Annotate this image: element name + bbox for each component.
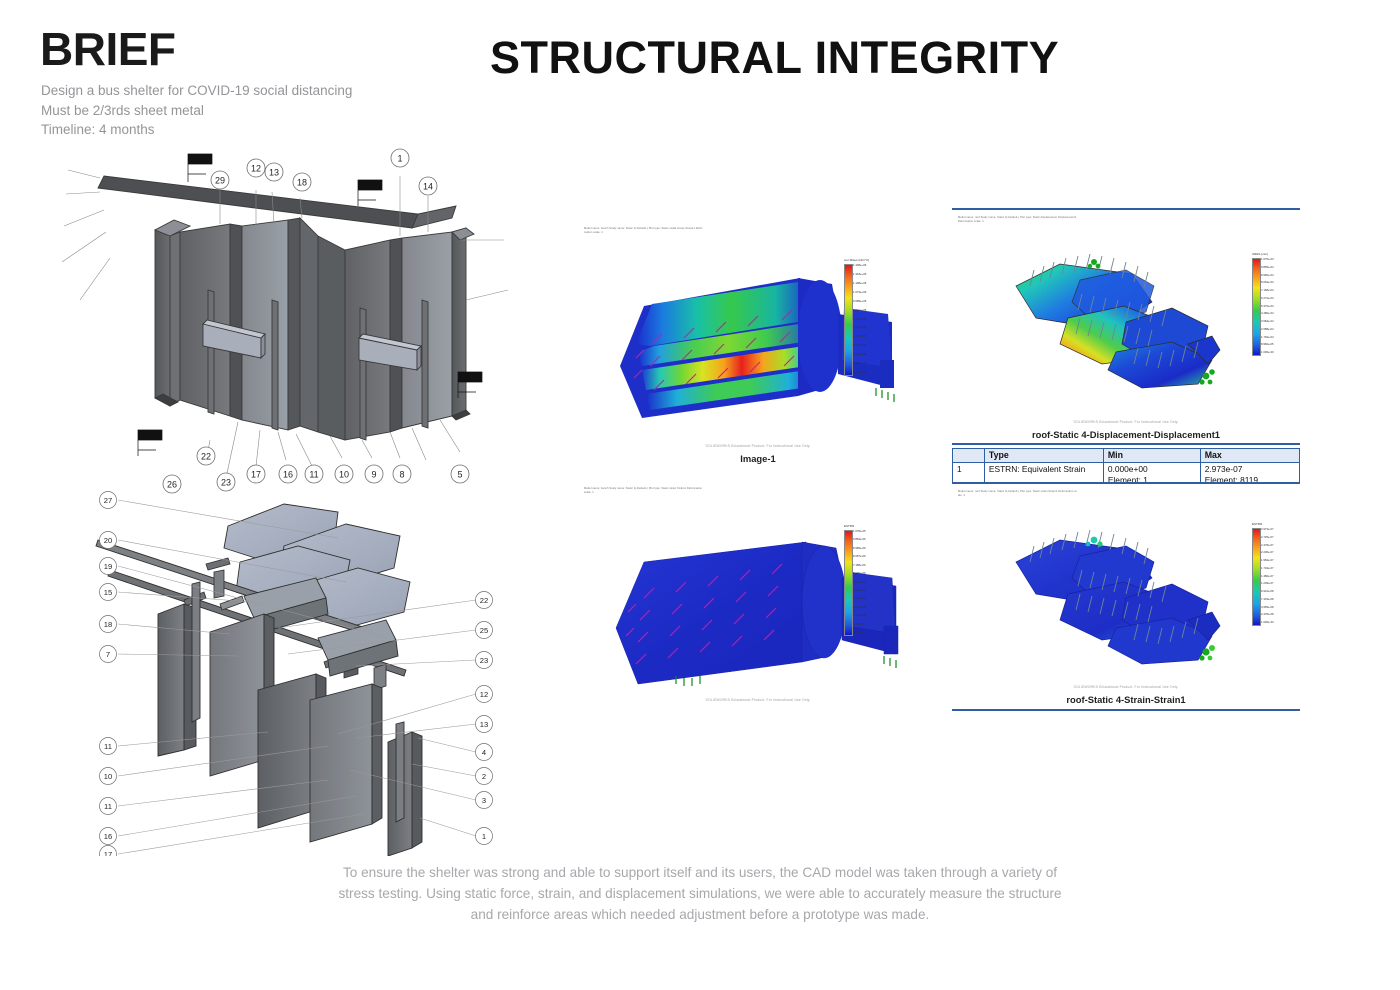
balloon-10: 10: [335, 465, 353, 483]
balloon-17: 17: [247, 465, 265, 483]
balloon-16: 16: [279, 465, 297, 483]
balloon-12b: 12: [476, 686, 493, 703]
balloon-2: 2: [476, 768, 493, 785]
svg-text:9: 9: [371, 470, 376, 480]
legend-tick: 6.272e-04: [1261, 297, 1274, 300]
svg-text:10: 10: [339, 470, 349, 480]
svg-text:19: 19: [104, 562, 112, 571]
legend-tick: 5.149e+02: [853, 371, 866, 374]
balloon-3: 3: [476, 792, 493, 809]
legend-tick: 1.438e+06: [853, 264, 866, 267]
legend-tick: 8.985e-06: [853, 547, 866, 550]
svg-text:18: 18: [104, 620, 112, 629]
legend-colorbar-1: [844, 264, 853, 376]
legend-tick: 8.960e-05: [1261, 343, 1274, 346]
legend-title-2: URES (mm): [1252, 252, 1268, 256]
svg-text:4: 4: [482, 748, 486, 757]
legend-tick: 5.391e-06: [853, 581, 866, 584]
svg-text:11: 11: [104, 742, 112, 751]
fea-legend-2: URES (mm) 1.075e-03 9.855e-04 8.960e-04 …: [1252, 258, 1294, 354]
legend-tick: 1.000e-33: [853, 631, 866, 634]
brief-heading: BRIEF: [40, 26, 176, 72]
balloon-7: 7: [100, 646, 117, 663]
fea-meta-1: Model name: bench Study name: Static 1(-…: [584, 227, 704, 235]
cell-min-value: 0.000e+00: [1108, 464, 1148, 474]
fea-legend-3: ESTRN 1.078e-05 9.884e-06 8.985e-06 8.08…: [844, 530, 886, 634]
svg-text:18: 18: [297, 178, 307, 188]
legend-ticks-2: 1.075e-03 9.855e-04 8.960e-04 8.064e-04 …: [1261, 258, 1274, 354]
balloon-10b: 10: [100, 768, 117, 785]
brief-line-1: Design a bus shelter for COVID-19 social…: [41, 81, 352, 101]
svg-text:1: 1: [397, 154, 402, 164]
fea-panel-bench-stress: Model name: bench Study name: Static 1(-…: [578, 222, 938, 472]
svg-text:20: 20: [104, 536, 112, 545]
legend-tick: 8.987e-07: [853, 623, 866, 626]
legend-tick: 1.486e-07: [1261, 575, 1274, 578]
fixture-marks: [876, 388, 894, 402]
legend-tick: 8.087e-06: [853, 555, 866, 558]
legend-tick: 1.982e-07: [1261, 559, 1274, 562]
balloon-14: 14: [419, 177, 437, 195]
legend-tick: 7.193e+05: [853, 318, 866, 321]
legend-tick: 1.079e+06: [853, 291, 866, 294]
legend-tick: 1.078e-05: [853, 530, 866, 533]
svg-text:5: 5: [457, 470, 462, 480]
legend-tick: 7.168e-04: [1261, 289, 1274, 292]
legend-tick: 9.884e-06: [853, 538, 866, 541]
fea-canvas-roof-displacement: [976, 240, 1266, 400]
fea-plotname-4: roof-Static 4-Strain-Strain1: [952, 694, 1300, 705]
legend-colorbar-4: [1252, 528, 1261, 626]
legend-tick: 9.910e-08: [1261, 590, 1274, 593]
legend-tick: 4.493e-06: [853, 589, 866, 592]
balloon-20: 20: [100, 532, 117, 549]
table-header-type: Type: [984, 449, 1103, 463]
balloon-group-top: 29 12 13 18 1 14: [211, 149, 437, 195]
legend-tick: 8.960e-04: [1261, 274, 1274, 277]
fea-rule-top-4: [952, 482, 1300, 484]
brief-description: Design a bus shelter for COVID-19 social…: [41, 81, 352, 140]
fea-plotname-1: Image-1: [578, 453, 938, 464]
legend-tick: 3.584e-04: [1261, 320, 1274, 323]
balloon-25: 25: [476, 622, 493, 639]
board-caption: To ensure the shelter was strong and abl…: [330, 862, 1070, 925]
fea-plotname-2: roof-Static 4-Displacement-Displacement1: [952, 429, 1300, 440]
svg-text:13: 13: [269, 168, 279, 178]
svg-text:23: 23: [480, 656, 488, 665]
svg-text:16: 16: [283, 470, 293, 480]
balloon-8: 8: [393, 465, 411, 483]
table-header-index: [953, 449, 985, 463]
balloon-1: 1: [391, 149, 409, 167]
svg-text:11: 11: [309, 470, 318, 480]
svg-text:7: 7: [106, 650, 110, 659]
legend-tick: 2.401e+05: [853, 353, 866, 356]
legend-ticks-1: 1.438e+06 1.318e+06 1.198e+06 1.079e+06 …: [853, 264, 866, 374]
presentation-board: BRIEF Design a bus shelter for COVID-19 …: [0, 0, 1400, 990]
legend-tick: 5.995e+05: [853, 326, 866, 329]
fea-legend-4: ESTRN 2.973e-07 2.725e-07 2.478e-07 2.23…: [1252, 528, 1294, 624]
page-title: STRUCTURAL INTEGRITY: [490, 32, 1059, 84]
legend-tick: 7.433e-08: [1261, 598, 1274, 601]
balloon-19: 19: [100, 558, 117, 575]
brief-line-2: Must be 2/3rds sheet metal: [41, 101, 352, 121]
balloon-13: 13: [265, 163, 283, 181]
legend-tick: 1.239e-07: [1261, 582, 1274, 585]
legend-colorbar-3: [844, 530, 853, 636]
balloon-11c: 11: [100, 798, 117, 815]
legend-tick: 1.797e-06: [853, 614, 866, 617]
legend-tick: 3.594e-06: [853, 597, 866, 600]
cad-exploded-view: 27 20 19 15 18 7 11 10 11 16 17 22 25 23…: [88, 488, 498, 856]
legend-tick: 3.599e+05: [853, 344, 866, 347]
legend-title-4: ESTRN: [1252, 522, 1262, 526]
table-header-max: Max: [1200, 449, 1299, 463]
legend-tick: 4.955e-08: [1261, 606, 1274, 609]
fea-meta-2: Model name: roof Study name: Static 4(-D…: [958, 216, 1078, 224]
svg-text:17: 17: [104, 850, 112, 856]
brief-line-3: Timeline: 4 months: [41, 120, 352, 140]
legend-tick: 2.230e-07: [1261, 551, 1274, 554]
fea-canvas-roof-strain: [976, 512, 1266, 672]
cell-max-value: 2.973e-07: [1205, 464, 1243, 474]
legend-tick: 1.318e+06: [853, 273, 866, 276]
svg-text:11: 11: [104, 802, 112, 811]
legend-colorbar-2: [1252, 258, 1261, 356]
balloon-11b: 11: [100, 738, 117, 755]
table-header-min: Min: [1103, 449, 1200, 463]
legend-tick: 9.855e-04: [1261, 266, 1274, 269]
legend-tick: 1.734e-07: [1261, 567, 1274, 570]
svg-text:22: 22: [480, 596, 488, 605]
balloon-1b: 1: [476, 828, 493, 845]
roof-mesh: [1016, 264, 1220, 388]
svg-text:17: 17: [251, 470, 261, 480]
legend-tick: 1.203e+05: [853, 362, 866, 365]
svg-text:2: 2: [482, 772, 486, 781]
fea-rule-top-2: [952, 208, 1300, 210]
legend-tick: 7.188e-06: [853, 564, 866, 567]
legend-tick: 2.725e-07: [1261, 536, 1274, 539]
svg-text:12: 12: [480, 690, 488, 699]
legend-tick: 1.198e+06: [853, 282, 866, 285]
fea-watermark-4: SOLIDWORKS Educational Product. For Inst…: [952, 685, 1300, 689]
legend-tick: 4.797e+05: [853, 335, 866, 338]
legend-tick: 8.391e+05: [853, 309, 866, 312]
svg-text:27: 27: [104, 496, 112, 505]
fea-panel-roof-displacement: Model name: roof Study name: Static 4(-D…: [952, 208, 1300, 446]
legend-tick: 2.688e-04: [1261, 328, 1274, 331]
legend-tick: 1.075e-03: [1261, 258, 1274, 261]
legend-tick: 1.000e-30: [1261, 351, 1274, 354]
fea-rule-bottom-2: [952, 443, 1300, 445]
svg-text:12: 12: [251, 164, 261, 174]
legend-ticks-3: 1.078e-05 9.884e-06 8.985e-06 8.087e-06 …: [853, 530, 866, 634]
svg-text:23: 23: [221, 478, 231, 488]
balloon-12: 12: [247, 159, 265, 177]
svg-text:8: 8: [399, 470, 404, 480]
fea-legend-1: von Mises (N/m^2) 1.438e+06 1.318e+06 1.…: [844, 264, 886, 374]
svg-text:16: 16: [104, 832, 112, 841]
balloon-16b: 16: [100, 828, 117, 845]
legend-tick: 8.064e-04: [1261, 281, 1274, 284]
cad-assembly-view: 29 12 13 18 1 14 26 22 23 17 16 11 10 9 …: [60, 140, 510, 500]
legend-tick: 2.696e-06: [853, 606, 866, 609]
balloon-29: 29: [211, 171, 229, 189]
fea-rule-bottom-4: [952, 709, 1300, 711]
balloon-5: 5: [451, 465, 469, 483]
balloon-18b: 18: [100, 616, 117, 633]
legend-tick: 4.480e-04: [1261, 312, 1274, 315]
fea-watermark-2: SOLIDWORKS Educational Product. For Inst…: [952, 420, 1300, 424]
balloon-11: 11: [305, 465, 323, 483]
svg-text:13: 13: [480, 720, 488, 729]
svg-text:29: 29: [215, 176, 225, 186]
balloon-9: 9: [365, 465, 383, 483]
svg-text:10: 10: [104, 772, 112, 781]
roof-strain-mesh: [1016, 540, 1220, 664]
balloon-4: 4: [476, 744, 493, 761]
balloon-22b: 22: [476, 592, 493, 609]
legend-tick: 1.000e-33: [1261, 621, 1274, 624]
balloon-17b: 17: [100, 846, 117, 857]
balloon-15: 15: [100, 584, 117, 601]
fea-watermark-3: SOLIDWORKS Educational Product. For Inst…: [578, 698, 938, 702]
legend-tick: 1.792e-04: [1261, 336, 1274, 339]
svg-text:25: 25: [480, 626, 488, 635]
legend-tick: 2.478e-08: [1261, 613, 1274, 616]
fea-meta-3: Model name: bench Study name: Static 1(-…: [584, 487, 704, 495]
legend-tick: 2.973e-07: [1261, 528, 1274, 531]
legend-title-1: von Mises (N/m^2): [844, 258, 869, 262]
assembly-geometry: [98, 176, 474, 440]
legend-tick: 2.478e-07: [1261, 544, 1274, 547]
legend-tick: 9.589e+05: [853, 300, 866, 303]
fea-panel-bench-strain: Model name: bench Study name: Static 1(-…: [578, 482, 938, 714]
svg-text:22: 22: [201, 452, 211, 462]
table-header-row: Type Min Max: [953, 449, 1300, 463]
balloon-18: 18: [293, 173, 311, 191]
legend-tick: 5.376e-04: [1261, 305, 1274, 308]
balloon-22: 22: [197, 447, 215, 465]
fea-panel-roof-strain: Model name: roof Study name: Static 4(-D…: [952, 482, 1300, 718]
legend-tick: 6.290e-06: [853, 572, 866, 575]
svg-text:3: 3: [482, 796, 486, 805]
balloon-27: 27: [100, 492, 117, 509]
exploded-balloon-group-left: 27 20 19 15 18 7 11 10 11 16 17: [100, 492, 117, 857]
legend-ticks-4: 2.973e-07 2.725e-07 2.478e-07 2.230e-07 …: [1261, 528, 1274, 624]
svg-text:15: 15: [104, 588, 112, 597]
svg-text:14: 14: [423, 182, 433, 192]
exploded-balloon-group-right: 22 25 23 12 13 4 2 3 1: [476, 592, 493, 845]
balloon-23b: 23: [476, 652, 493, 669]
svg-text:1: 1: [482, 832, 486, 841]
legend-title-3: ESTRN: [844, 524, 854, 528]
balloon-13b: 13: [476, 716, 493, 733]
fea-meta-4: Model name: roof Study name: Static 4(-D…: [958, 490, 1078, 498]
fea-watermark-1: SOLIDWORKS Educational Product. For Inst…: [578, 444, 938, 448]
